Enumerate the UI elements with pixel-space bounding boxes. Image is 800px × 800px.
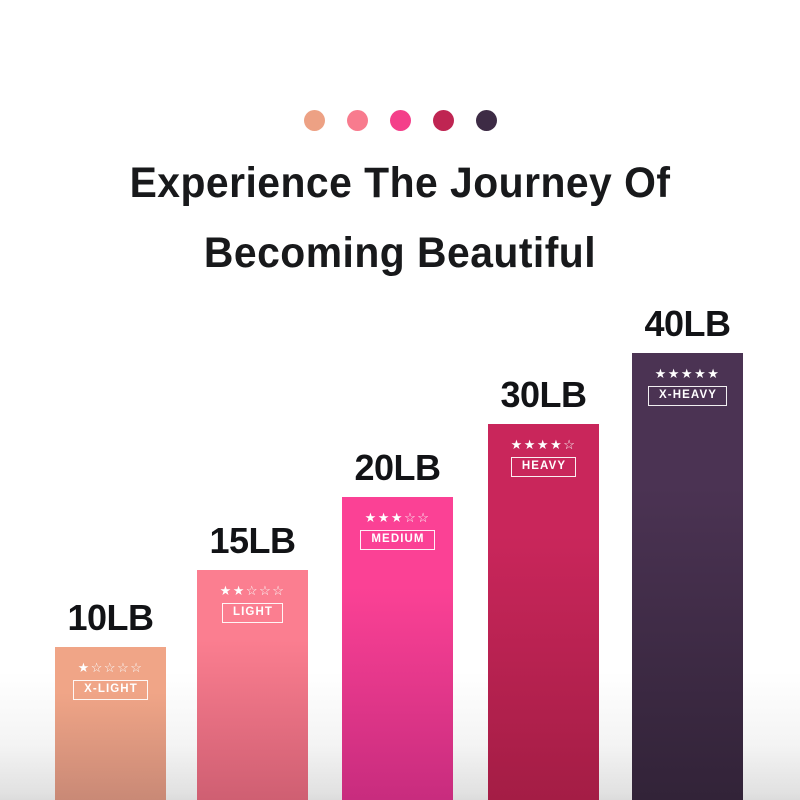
bar-body[interactable]: ★★★★☆HEAVY xyxy=(488,424,599,800)
resistance-level-label: LIGHT xyxy=(222,603,283,623)
bar-rating-badge: ★★★☆☆MEDIUM xyxy=(342,511,453,550)
bar-column-heavy[interactable]: 30LB★★★★☆HEAVY xyxy=(488,377,599,800)
dot-light-icon xyxy=(347,110,368,131)
star-rating-icon: ★☆☆☆☆ xyxy=(78,661,144,674)
star-rating-icon: ★★★★☆ xyxy=(511,438,577,451)
dot-medium-icon xyxy=(390,110,411,131)
page-title-line-2: Becoming Beautiful xyxy=(20,218,780,288)
bar-body[interactable]: ★★★★★X-HEAVY xyxy=(632,353,743,800)
star-rating-icon: ★★★☆☆ xyxy=(365,511,431,524)
page-title: Experience The Journey Of Becoming Beaut… xyxy=(0,148,800,288)
bar-column-medium[interactable]: 20LB★★★☆☆MEDIUM xyxy=(342,450,453,800)
bar-rating-badge: ★☆☆☆☆X-LIGHT xyxy=(55,661,166,700)
bar-weight-label: 10LB xyxy=(67,600,153,636)
dot-x-heavy-icon xyxy=(476,110,497,131)
star-rating-icon: ★★☆☆☆ xyxy=(220,584,286,597)
dot-x-light-icon xyxy=(304,110,325,131)
bar-weight-label: 40LB xyxy=(644,306,730,342)
page-title-line-1: Experience The Journey Of xyxy=(20,148,780,218)
bar-column-light[interactable]: 15LB★★☆☆☆LIGHT xyxy=(197,523,308,800)
color-swatch-dots xyxy=(0,108,800,132)
resistance-level-label: MEDIUM xyxy=(360,530,434,550)
bar-column-x-heavy[interactable]: 40LB★★★★★X-HEAVY xyxy=(632,306,743,800)
resistance-level-label: X-HEAVY xyxy=(648,386,727,406)
star-rating-icon: ★★★★★ xyxy=(655,367,721,380)
bar-rating-badge: ★★★★☆HEAVY xyxy=(488,438,599,477)
dot-heavy-icon xyxy=(433,110,454,131)
bar-weight-label: 30LB xyxy=(500,377,586,413)
bar-rating-badge: ★★☆☆☆LIGHT xyxy=(197,584,308,623)
page-background: Experience The Journey Of Becoming Beaut… xyxy=(0,0,800,800)
bar-weight-label: 15LB xyxy=(209,523,295,559)
bar-body[interactable]: ★★★☆☆MEDIUM xyxy=(342,497,453,800)
resistance-level-label: HEAVY xyxy=(511,457,576,477)
bar-rating-badge: ★★★★★X-HEAVY xyxy=(632,367,743,406)
bar-body[interactable]: ★★☆☆☆LIGHT xyxy=(197,570,308,800)
resistance-level-label: X-LIGHT xyxy=(73,680,148,700)
resistance-level-bar-chart: 10LB★☆☆☆☆X-LIGHT15LB★★☆☆☆LIGHT20LB★★★☆☆M… xyxy=(0,280,800,800)
bar-weight-label: 20LB xyxy=(354,450,440,486)
bar-body[interactable]: ★☆☆☆☆X-LIGHT xyxy=(55,647,166,800)
bar-column-x-light[interactable]: 10LB★☆☆☆☆X-LIGHT xyxy=(55,600,166,800)
